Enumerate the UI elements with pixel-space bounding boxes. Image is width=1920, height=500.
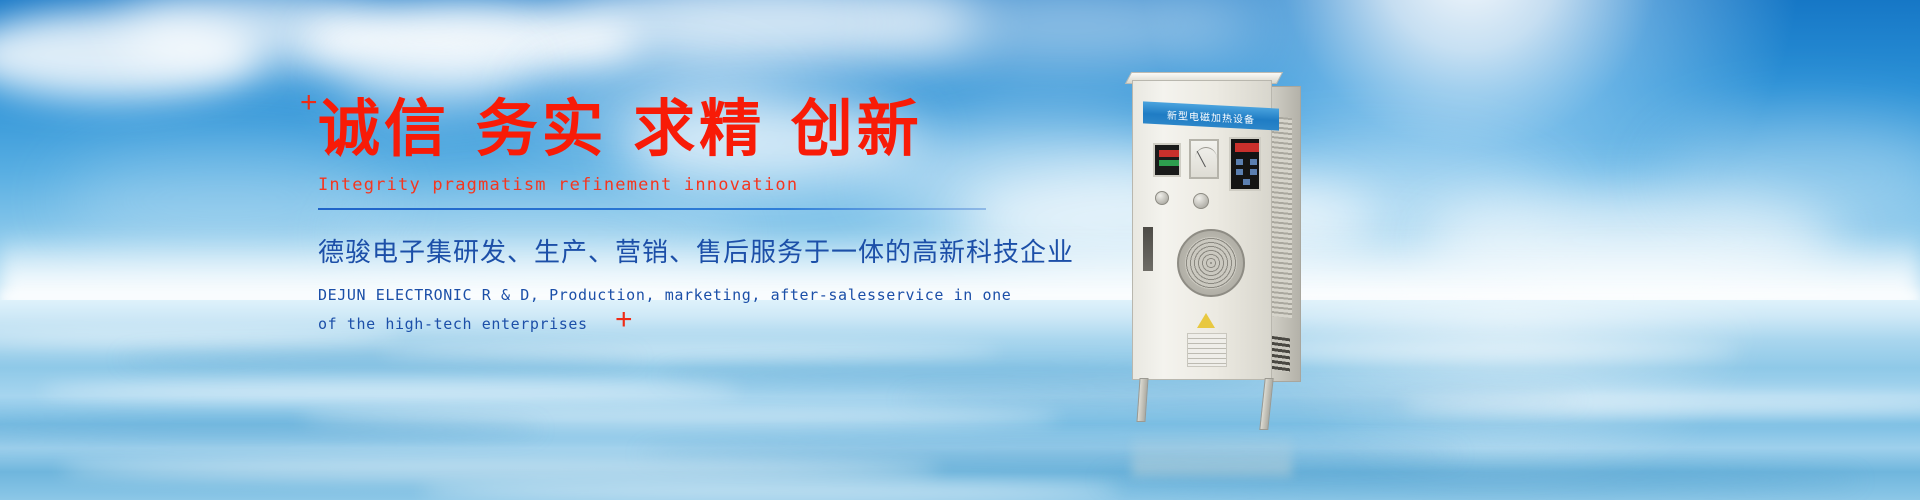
subhead-english-line-1: DEJUN ELECTRONIC R & D, Production, mark… [318, 281, 1018, 310]
spec-sticker [1187, 333, 1227, 367]
lower-grille-icon [1270, 336, 1290, 373]
cooling-fan [1177, 229, 1245, 297]
hero-banner: + + 诚信 务实 求精 创新 Integrity pragmatism ref… [0, 0, 1920, 500]
keypad-button [1236, 169, 1243, 175]
headline-english: Integrity pragmatism refinement innovati… [318, 175, 1018, 195]
wave-highlight [380, 344, 1000, 358]
keypad-display [1235, 143, 1259, 152]
control-keypad [1229, 137, 1261, 191]
vent-grille-icon [1270, 116, 1292, 318]
keypad-button [1243, 179, 1250, 185]
cabinet-leg [1136, 378, 1148, 422]
keypad-button [1250, 159, 1257, 165]
wave-highlight [60, 458, 940, 480]
subhead-english-line-2: of the high-tech enterprises [318, 310, 1018, 339]
divider-rule [318, 208, 986, 210]
temperature-controller-display [1153, 143, 1181, 177]
headline-chinese: 诚信 务实 求精 创新 [318, 96, 1018, 161]
product-label-text: 新型电磁加热设备 [1167, 106, 1255, 126]
warning-triangle-icon [1197, 313, 1215, 328]
subhead-chinese: 德骏电子集研发、生产、营销、售后服务于一体的高新科技企业 [318, 232, 1018, 269]
analog-ammeter [1189, 139, 1219, 179]
wave-highlight [40, 382, 740, 400]
plus-mark-icon: + [300, 88, 318, 118]
side-handle [1143, 227, 1153, 271]
keypad-button [1250, 169, 1257, 175]
cabinet-front: 新型电磁加热设备 [1132, 80, 1272, 380]
product-reflection [1132, 432, 1292, 476]
product-image-induction-heater: 新型电磁加热设备 [1124, 60, 1324, 420]
fan-grill-icon [1185, 237, 1237, 289]
keypad-button [1236, 159, 1243, 165]
product-label-plate: 新型电磁加热设备 [1143, 101, 1279, 130]
banner-copy: 诚信 务实 求精 创新 Integrity pragmatism refinem… [318, 96, 1018, 338]
display-segment-green [1159, 160, 1179, 166]
rotary-knob [1155, 191, 1169, 205]
display-segment-red [1159, 150, 1179, 157]
wave-highlight [420, 482, 1120, 500]
rotary-knob [1193, 193, 1209, 209]
